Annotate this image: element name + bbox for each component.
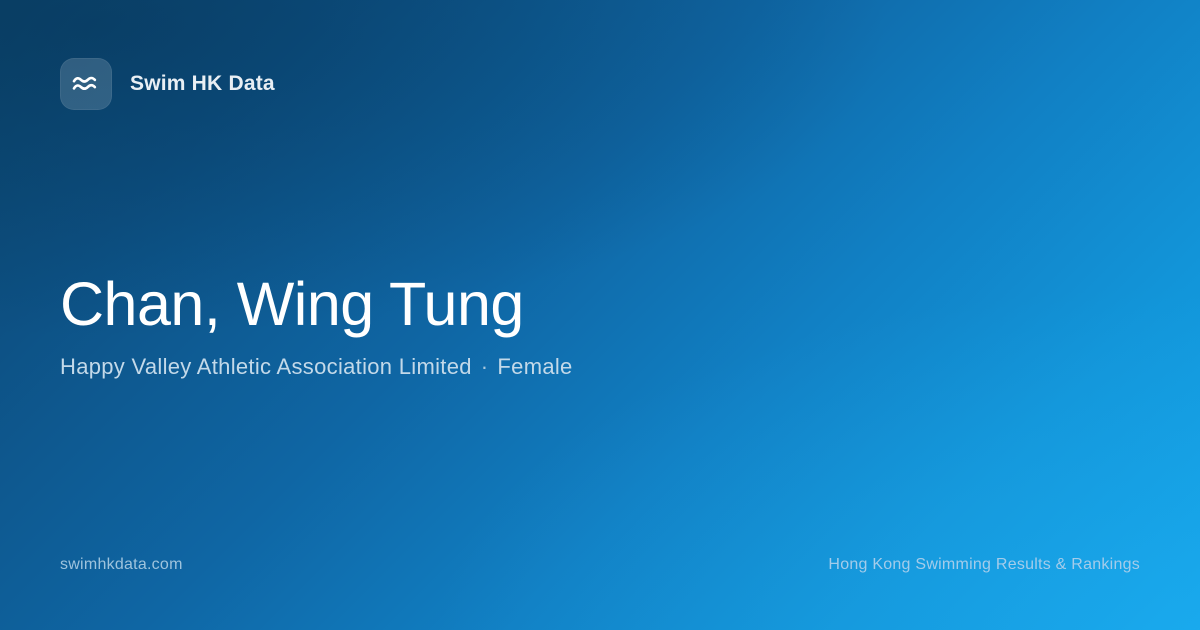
meta-separator: ·: [472, 354, 498, 379]
athlete-meta: Happy Valley Athletic Association Limite…: [60, 353, 573, 382]
athlete-gender: Female: [497, 354, 572, 379]
site-url[interactable]: swimhkdata.com: [60, 556, 183, 574]
athlete-block: Chan, Wing Tung Happy Valley Athletic As…: [60, 272, 573, 381]
brand-logo-tile: [60, 58, 112, 110]
brand-lockup[interactable]: Swim HK Data: [60, 58, 275, 110]
card-footer: swimhkdata.com Hong Kong Swimming Result…: [60, 556, 1140, 574]
athlete-club: Happy Valley Athletic Association Limite…: [60, 354, 472, 379]
athlete-name: Chan, Wing Tung: [60, 272, 573, 337]
brand-name: Swim HK Data: [130, 72, 275, 96]
og-card: Swim HK Data Chan, Wing Tung Happy Valle…: [0, 0, 1200, 630]
site-tagline: Hong Kong Swimming Results & Rankings: [828, 556, 1140, 574]
wave-icon: [71, 73, 101, 95]
